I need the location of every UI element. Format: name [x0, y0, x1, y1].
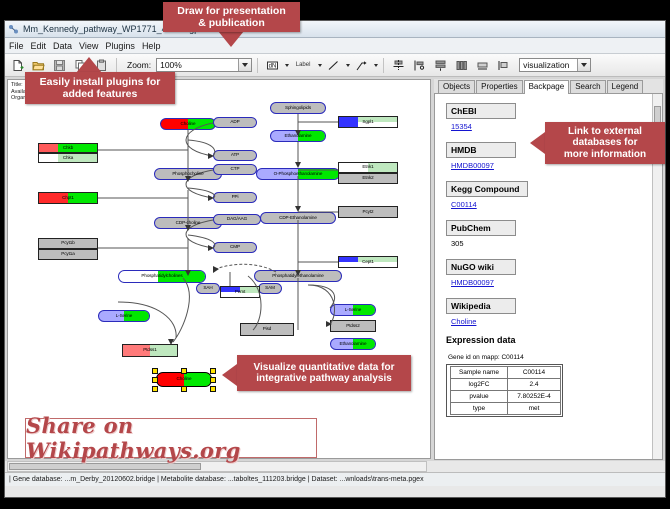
- node-label: Pcyt1b: [61, 241, 74, 246]
- tab-legend[interactable]: Legend: [607, 80, 644, 93]
- gene-id-label: Gene id on mapp: C00114: [448, 354, 662, 361]
- pathway-connections: [8, 80, 431, 459]
- node-label: CDP-choline: [176, 221, 201, 226]
- zoom-value: 100%: [160, 60, 182, 70]
- link-kegg[interactable]: C00114: [451, 200, 662, 209]
- menu-item-edit[interactable]: Edit: [31, 41, 47, 51]
- datanode-icon[interactable]: dN: [263, 56, 282, 75]
- zoom-label: Zoom:: [127, 60, 151, 70]
- side-panel-tabs: Objects Properties Backpage Search Legen…: [434, 79, 663, 94]
- label-dropdown-icon[interactable]: [318, 64, 322, 67]
- toolbar-separator-3: [383, 58, 384, 73]
- node-label: Chkb: [63, 146, 73, 151]
- expression-table: Sample name C00114 log2FC 2.4 pvalue 7.8…: [450, 366, 561, 415]
- section-header-pubchem: PubChem: [446, 220, 516, 236]
- scrollbar-thumb[interactable]: [9, 463, 201, 470]
- node-label: CMP: [230, 245, 240, 250]
- line-dropdown-icon[interactable]: [346, 64, 350, 67]
- node-label: Phosphocholine: [172, 172, 203, 177]
- node-label: L-Serine: [345, 308, 362, 313]
- tab-objects[interactable]: Objects: [438, 80, 475, 93]
- selection-handle-nw[interactable]: [152, 368, 158, 374]
- link-wikipedia[interactable]: Choline: [451, 317, 662, 326]
- node-label: DAG/AAG: [227, 217, 247, 222]
- callout-links: Link to external databases for more info…: [545, 122, 665, 164]
- node-label: Ptdss1: [143, 348, 156, 353]
- cell-key: log2FC: [451, 379, 508, 391]
- node-label: Ptdss2: [346, 324, 359, 329]
- callout-draw: Draw for presentation & publication: [163, 2, 300, 32]
- cell-value: C00114: [508, 367, 561, 379]
- callout-visualize: Visualize quantitative data for integrat…: [237, 355, 411, 391]
- visualization-value: visualization: [523, 60, 569, 70]
- callout-share: Share on Wikipathways.org: [25, 418, 317, 458]
- callout-links-arrow-icon: [530, 132, 545, 154]
- stack-vertical-icon[interactable]: [431, 56, 450, 75]
- datanode-dropdown-icon[interactable]: [285, 64, 289, 67]
- visualization-combo[interactable]: visualization: [519, 58, 591, 72]
- chevron-down-icon[interactable]: [238, 59, 251, 71]
- callout-plugins-arrow-icon: [76, 57, 102, 73]
- zoom-combo[interactable]: 100%: [156, 58, 252, 72]
- section-header-nugo: NuGO wiki: [446, 259, 516, 275]
- callout-visualize-arrow-icon: [222, 364, 237, 386]
- label-dropdown-text: Label: [296, 62, 311, 68]
- node-label: CTP: [231, 167, 240, 172]
- expression-table-frame: Sample name C00114 log2FC 2.4 pvalue 7.8…: [446, 364, 563, 417]
- node-label: Sphingolipids: [285, 106, 311, 111]
- selection-handle-n[interactable]: [181, 368, 187, 374]
- node-label: Cept1: [362, 260, 374, 265]
- section-header-kegg: Kegg Compound: [446, 181, 528, 197]
- tab-search[interactable]: Search: [570, 80, 605, 93]
- menu-item-file[interactable]: File: [9, 41, 24, 51]
- node-label: L-Serine: [116, 314, 133, 319]
- selection-handle-sw[interactable]: [152, 386, 158, 392]
- expression-data-title: Expression data: [446, 335, 662, 345]
- table-row: Sample name C00114: [451, 367, 561, 379]
- node-label: Etnk2: [362, 176, 373, 181]
- value-pubchem: 305: [451, 239, 662, 248]
- node-label: Chka: [63, 156, 73, 161]
- node-label: Chpt1: [62, 196, 74, 201]
- selection-handle-s[interactable]: [181, 386, 187, 392]
- node-label: O-Phosphoethanolamine: [274, 172, 323, 177]
- node-label: Sgpl1: [362, 120, 373, 125]
- interaction-dropdown-icon[interactable]: [374, 64, 378, 67]
- svg-text:dN: dN: [269, 63, 277, 69]
- table-row: log2FC 2.4: [451, 379, 561, 391]
- callout-draw-arrow-icon: [218, 31, 244, 47]
- cell-key: Sample name: [451, 367, 508, 379]
- node-label: Ethanolamine: [285, 134, 312, 139]
- interaction-icon[interactable]: [352, 56, 371, 75]
- align-center-icon[interactable]: [389, 56, 408, 75]
- menu-item-plugins[interactable]: Plugins: [105, 41, 135, 51]
- cell-key: pvalue: [451, 391, 508, 403]
- section-header-chebi: ChEBI: [446, 103, 516, 119]
- tab-backpage[interactable]: Backpage: [524, 80, 570, 94]
- node-label: Pisd: [263, 327, 272, 332]
- selection-handle-ne[interactable]: [210, 368, 216, 374]
- node-label: CDP-Ethanolamine: [279, 216, 317, 221]
- menu-item-data[interactable]: Data: [53, 41, 72, 51]
- line-icon[interactable]: [324, 56, 343, 75]
- selection-handle-w[interactable]: [152, 377, 158, 383]
- node-label: Etnk1: [362, 165, 373, 170]
- cell-value: 7.80252E-4: [508, 391, 561, 403]
- toolbar-separator-1: [116, 58, 117, 73]
- cell-key: type: [451, 403, 508, 415]
- node-label: ADP: [230, 120, 239, 125]
- cell-value: 2.4: [508, 379, 561, 391]
- node-label: ATP: [231, 153, 239, 158]
- selection-handle-e[interactable]: [210, 377, 216, 383]
- pathway-canvas[interactable]: Title: Availa Organi: [7, 79, 431, 459]
- node-label: Ethanolamine: [340, 342, 367, 347]
- status-bar: | Gene database: ...m_Derby_20120602.bri…: [5, 472, 665, 486]
- callout-plugins: Easily install plugins for added feature…: [25, 72, 175, 104]
- node-label: Phosphatidylethanolamine: [272, 274, 324, 279]
- menu-item-view[interactable]: View: [79, 41, 98, 51]
- tab-properties[interactable]: Properties: [476, 80, 522, 93]
- section-header-hmdb: HMDB: [446, 142, 516, 158]
- link-nugo[interactable]: HMDB00097: [451, 278, 662, 287]
- node-label: Pcyt2: [363, 210, 374, 215]
- node-label: Choline: [181, 122, 196, 127]
- table-row: pvalue 7.80252E-4: [451, 391, 561, 403]
- status-text: | Gene database: ...m_Derby_20120602.bri…: [9, 476, 424, 483]
- selection-handle-se[interactable]: [210, 386, 216, 392]
- node-label: Pemt: [235, 290, 245, 295]
- node-label: SAH: [203, 286, 212, 291]
- share-text: Share on Wikipathways.org: [26, 413, 316, 463]
- toolbar-separator-2: [257, 58, 258, 73]
- title-bar: Mm_Kennedy_pathway_WP1771_45176.gpml: [5, 21, 665, 38]
- table-row: type met: [451, 403, 561, 415]
- cell-value: met: [508, 403, 561, 415]
- label-dropdown[interactable]: Label: [291, 56, 315, 75]
- node-label: Choline: [177, 377, 192, 382]
- node-label: SAM: [265, 286, 275, 291]
- node-label: PPi: [232, 195, 239, 200]
- node-label: Pcyt1a: [61, 252, 74, 257]
- pathvisio-app-icon: [8, 24, 19, 35]
- align-left-icon[interactable]: [410, 56, 429, 75]
- visualization-chevron-icon[interactable]: [577, 59, 590, 71]
- menu-bar: File Edit Data View Plugins Help: [5, 38, 665, 54]
- bring-front-icon[interactable]: [494, 56, 513, 75]
- section-header-wikipedia: Wikipedia: [446, 298, 516, 314]
- same-width-icon[interactable]: [473, 56, 492, 75]
- node-label: Phosphatidylcholines: [141, 274, 182, 279]
- distribute-icon[interactable]: [452, 56, 471, 75]
- menu-item-help[interactable]: Help: [142, 41, 161, 51]
